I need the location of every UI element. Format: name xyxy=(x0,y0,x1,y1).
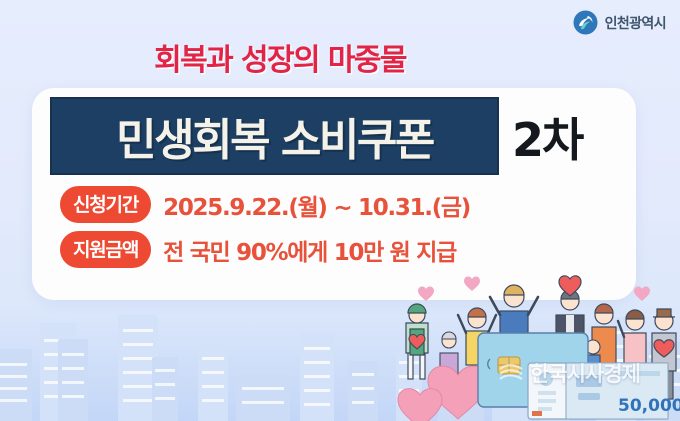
building xyxy=(348,361,378,421)
building xyxy=(236,375,290,421)
building xyxy=(198,343,228,421)
info-value: 2025.9.22.(월) ~ 10.31.(금) xyxy=(163,188,470,222)
building xyxy=(0,349,32,421)
phase-label: 2차 xyxy=(512,104,582,170)
headline-text: 회복과 성장의 마중물 xyxy=(0,35,680,79)
info-row: 신청기간 2025.9.22.(월) ~ 10.31.(금) xyxy=(60,186,470,223)
main-title-text: 민생회복 소비쿠폰 xyxy=(116,104,433,168)
people-illustration: 50,000 xyxy=(380,271,680,421)
building xyxy=(58,339,88,421)
info-label-badge: 신청기간 xyxy=(60,186,151,223)
info-value: 전 국민 90%에게 10만 원 지급 xyxy=(163,233,456,267)
building xyxy=(300,333,334,421)
promotional-banner: 인천광역시 회복과 성장의 마중물 민생회복 소비쿠폰 2차 신청기간 2025… xyxy=(0,0,680,421)
main-title-bar: 민생회복 소비쿠폰 xyxy=(50,97,499,175)
building xyxy=(152,357,178,421)
incheon-city-logo: 인천광역시 xyxy=(573,10,666,35)
info-list: 신청기간 2025.9.22.(월) ~ 10.31.(금) 지원금액 전 국민… xyxy=(60,186,470,268)
info-label-badge: 지원금액 xyxy=(60,231,151,268)
info-row: 지원금액 전 국민 90%에게 10만 원 지급 xyxy=(60,231,470,268)
voucher-graphic: 50,000 xyxy=(528,363,680,419)
incheon-swirl-logo-icon xyxy=(573,10,598,35)
person-figure xyxy=(406,304,428,379)
logo-text: 인천광역시 xyxy=(605,13,666,33)
voucher-amount-text: 50,000 xyxy=(618,396,680,416)
